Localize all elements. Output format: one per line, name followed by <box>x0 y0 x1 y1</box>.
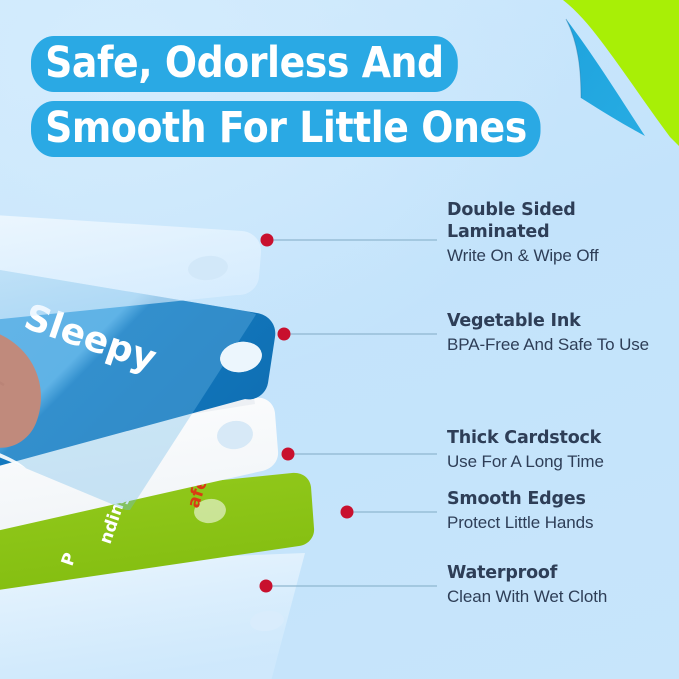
feature-thick-cardstock: Thick Cardstock Use For A Long Time <box>447 427 672 473</box>
page-title: Safe, Odorless And Smooth For Little One… <box>31 36 591 157</box>
product-feature-infographic: Safe, Odorless And Smooth For Little One… <box>0 0 679 679</box>
feature-title: Double Sided Laminated <box>447 199 672 243</box>
feature-waterproof: Waterproof Clean With Wet Cloth <box>447 562 672 608</box>
feature-title-line-2: Laminated <box>447 222 549 242</box>
feature-double-sided-laminated: Double Sided Laminated Write On & Wipe O… <box>447 199 672 267</box>
feature-smooth-edges: Smooth Edges Protect Little Hands <box>447 488 672 534</box>
feature-subtitle: Use For A Long Time <box>447 450 672 473</box>
feature-title: Vegetable Ink <box>447 310 672 332</box>
title-line-2: Smooth For Little Ones <box>31 101 541 157</box>
feature-title-line-1: Double Sided <box>447 200 576 220</box>
feature-title: Thick Cardstock <box>447 427 672 449</box>
feature-title: Waterproof <box>447 562 672 584</box>
flashcard-fan-illustration: afe ndings P <box>0 215 400 645</box>
feature-vegetable-ink: Vegetable Ink BPA-Free And Safe To Use <box>447 310 672 356</box>
feature-subtitle: Clean With Wet Cloth <box>447 585 672 608</box>
feature-subtitle: Write On & Wipe Off <box>447 244 672 267</box>
feature-title: Smooth Edges <box>447 488 672 510</box>
feature-subtitle: BPA-Free And Safe To Use <box>447 333 672 356</box>
title-line-1: Safe, Odorless And <box>31 36 458 92</box>
feature-subtitle: Protect Little Hands <box>447 511 672 534</box>
